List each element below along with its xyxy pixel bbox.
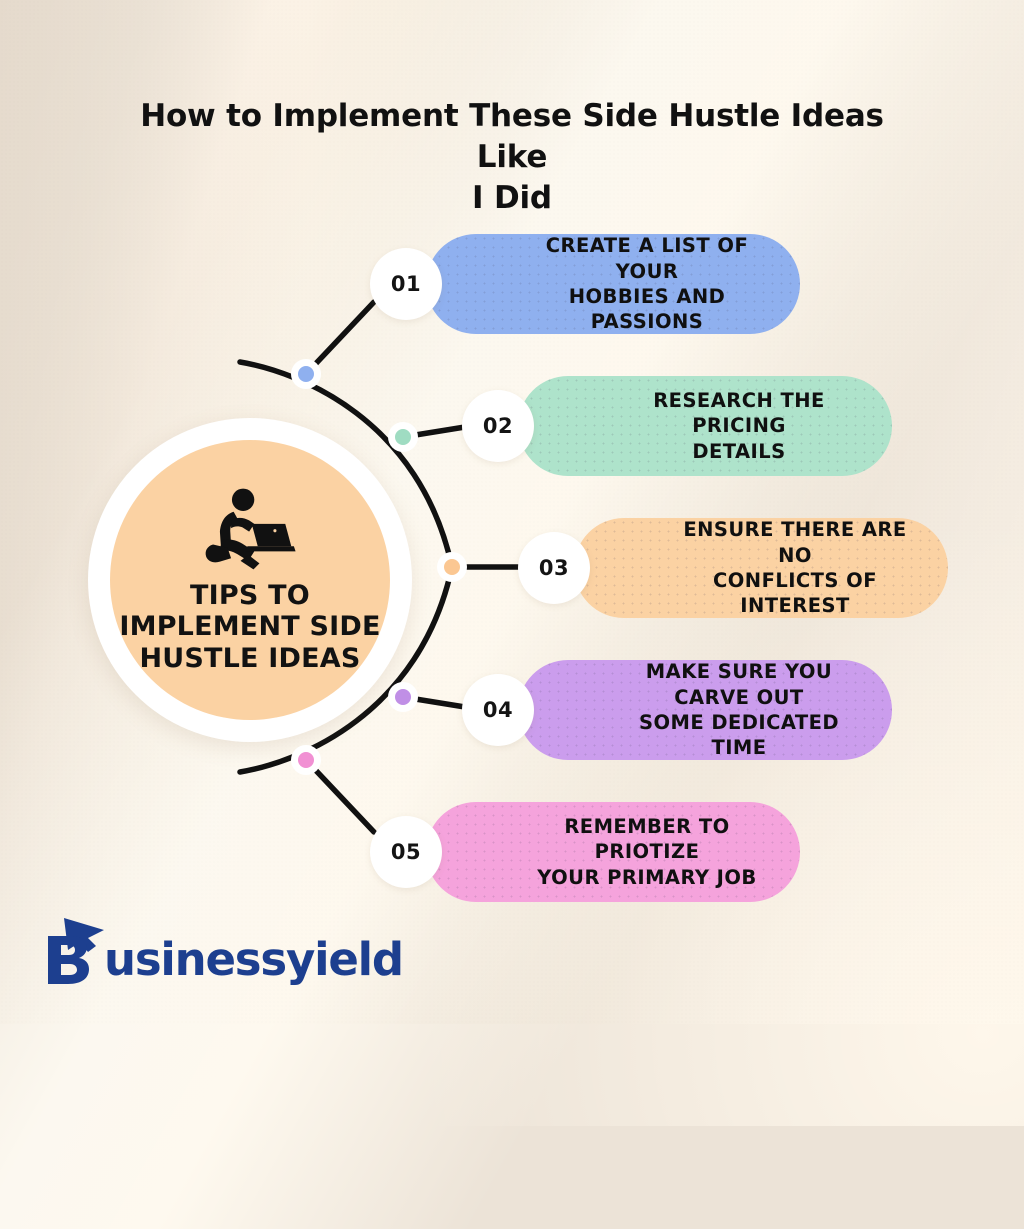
node-dot-2-fill <box>395 429 411 445</box>
step-number-5: 05 <box>370 816 442 888</box>
step-pill-5[interactable]: REMEMBER TO PRIOTIZE YOUR PRIMARY JOB <box>426 802 800 902</box>
step-row-3[interactable]: ENSURE THERE ARE NO CONFLICTS OF INTERES… <box>518 518 948 618</box>
step-pill-3[interactable]: ENSURE THERE ARE NO CONFLICTS OF INTERES… <box>574 518 948 618</box>
node-dot-1-fill <box>298 366 314 382</box>
node-dot-2 <box>388 422 418 452</box>
step-text-4: MAKE SURE YOU CARVE OUT SOME DEDICATED T… <box>614 659 864 760</box>
center-hub-inner: TIPS TO IMPLEMENT SIDE HUSTLE IDEAS <box>110 440 390 720</box>
node-dot-1 <box>291 359 321 389</box>
step-text-1: CREATE A LIST OF YOUR HOBBIES AND PASSIO… <box>522 233 772 334</box>
brand-logo-text: usinessyield <box>104 937 403 988</box>
step-number-3: 03 <box>518 532 590 604</box>
center-hub-label: TIPS TO IMPLEMENT SIDE HUSTLE IDEAS <box>119 580 380 674</box>
step-row-2[interactable]: RESEARCH THE PRICING DETAILS 02 <box>462 376 892 476</box>
step-number-1: 01 <box>370 248 442 320</box>
step-text-5: REMEMBER TO PRIOTIZE YOUR PRIMARY JOB <box>522 814 772 890</box>
step-pill-4[interactable]: MAKE SURE YOU CARVE OUT SOME DEDICATED T… <box>518 660 892 760</box>
step-number-2: 02 <box>462 390 534 462</box>
node-dot-3 <box>437 552 467 582</box>
step-pill-1[interactable]: CREATE A LIST OF YOUR HOBBIES AND PASSIO… <box>426 234 800 334</box>
node-dot-4-fill <box>395 689 411 705</box>
step-text-2: RESEARCH THE PRICING DETAILS <box>614 388 864 464</box>
step-row-4[interactable]: MAKE SURE YOU CARVE OUT SOME DEDICATED T… <box>462 660 892 760</box>
step-row-1[interactable]: CREATE A LIST OF YOUR HOBBIES AND PASSIO… <box>370 234 800 334</box>
person-running-with-laptop-icon <box>202 486 298 572</box>
node-dot-4 <box>388 682 418 712</box>
node-dot-3-fill <box>444 559 460 575</box>
step-pill-2[interactable]: RESEARCH THE PRICING DETAILS <box>518 376 892 476</box>
step-text-3: ENSURE THERE ARE NO CONFLICTS OF INTERES… <box>670 517 920 618</box>
step-row-5[interactable]: REMEMBER TO PRIOTIZE YOUR PRIMARY JOB 05 <box>370 802 800 902</box>
step-number-4: 04 <box>462 674 534 746</box>
b-with-upward-arrow-icon <box>44 916 110 988</box>
node-dot-5-fill <box>298 752 314 768</box>
brand-logo[interactable]: usinessyield <box>44 916 403 988</box>
node-dot-5 <box>291 745 321 775</box>
center-hub: TIPS TO IMPLEMENT SIDE HUSTLE IDEAS <box>88 418 412 742</box>
